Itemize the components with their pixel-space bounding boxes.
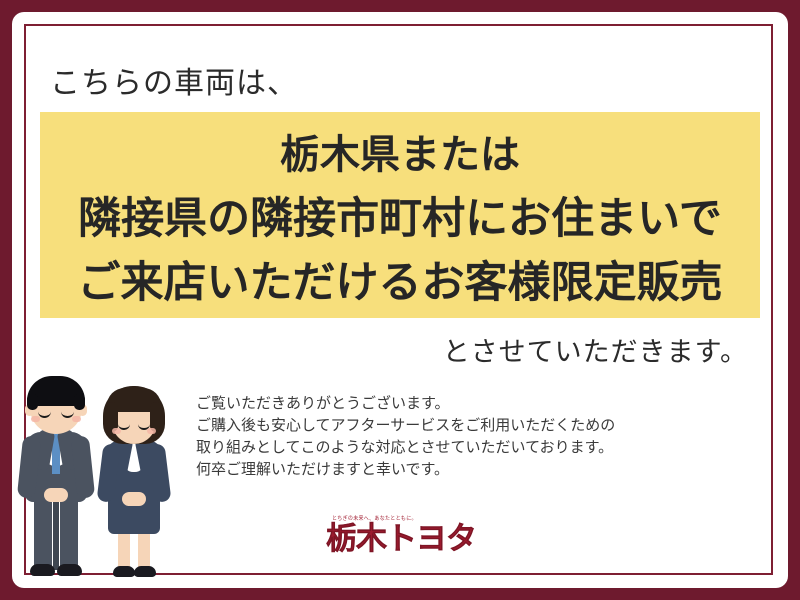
- logo-tagline: とちぎの未来へ、あなたとともに。: [332, 515, 482, 523]
- body-line: ご購入後も安心してアフターサービスをご利用いただくための: [196, 414, 615, 436]
- highlight-line-1: 栃木県または: [40, 122, 760, 180]
- bowing-female-staff-icon: [92, 382, 176, 584]
- notice-image: こちらの車両は、 栃木県または 隣接県の隣接市町村にお住まいで ご来店いただける…: [0, 0, 800, 600]
- body-line: 何卒ご理解いただけますと幸いです。: [196, 458, 615, 480]
- highlight-line-3: ご来店いただけるお客様限定販売: [40, 248, 760, 310]
- highlight-band: 栃木県または 隣接県の隣接市町村にお住まいで ご来店いただけるお客様限定販売: [40, 112, 760, 318]
- logo-wordmark: 栃木トヨタ: [326, 523, 482, 555]
- dealer-logo: とちぎの未来へ、あなたとともに。 栃木トヨタ: [326, 515, 482, 555]
- body-line: 取り組みとしてこのような対応とさせていただいております。: [196, 436, 615, 458]
- body-line: ご覧いただきありがとうございます。: [196, 392, 615, 414]
- bowing-male-staff-icon: [14, 372, 98, 584]
- lead-text: こちらの車両は、: [50, 58, 298, 102]
- highlight-line-2: 隣接県の隣接市町村にお住まいで: [40, 184, 760, 246]
- closing-text: とさせていただきます。: [443, 330, 748, 369]
- body-paragraph: ご覧いただきありがとうございます。 ご購入後も安心してアフターサービスをご利用い…: [196, 392, 615, 480]
